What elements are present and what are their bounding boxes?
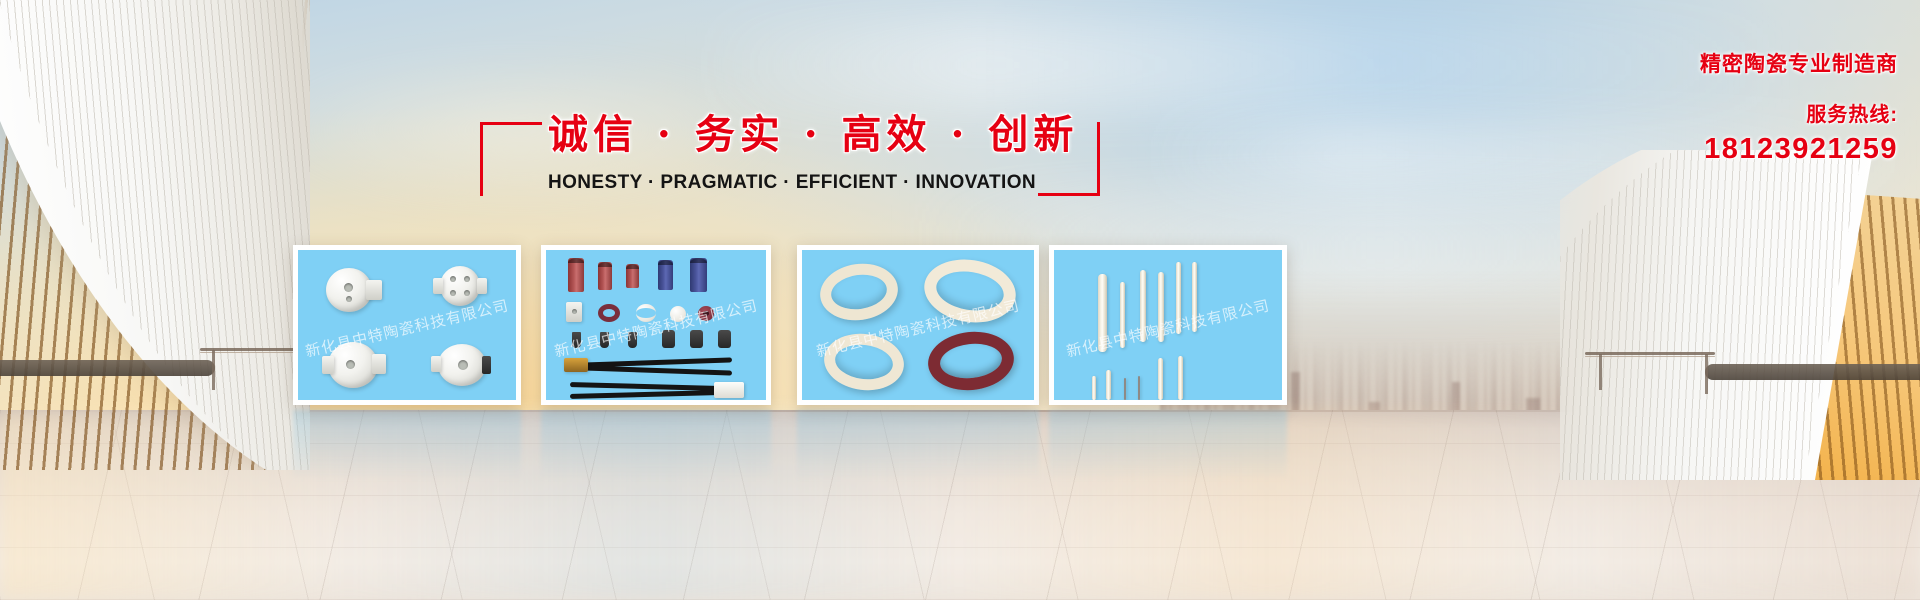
- product-panel-ceramic-rods[interactable]: 新化县中特陶瓷科技有限公司: [1049, 245, 1287, 405]
- railing-post: [212, 350, 215, 390]
- company-tagline: 精密陶瓷专业制造商: [1538, 48, 1898, 78]
- panel-reflection: [1049, 410, 1287, 480]
- panel-reflection: [541, 410, 771, 480]
- product-panel-ceramic-lamp-holders[interactable]: 新化县中特陶瓷科技有限公司: [293, 245, 521, 405]
- contact-block: 精密陶瓷专业制造商 服务热线: 18123921259: [1538, 48, 1898, 166]
- railing-post: [1705, 354, 1708, 394]
- product-panel-row: 新化县中特陶瓷科技有限公司: [293, 245, 1293, 410]
- railing-post: [1599, 354, 1602, 390]
- panel-reflection: [797, 410, 1039, 480]
- right-railing-bar: [1585, 352, 1715, 355]
- slogan-block: 诚信 · 务实 · 高效 · 创新 HONESTY · PRAGMATIC · …: [480, 108, 1100, 200]
- panel-reflection: [293, 410, 521, 480]
- promo-banner: 诚信 · 务实 · 高效 · 创新 HONESTY · PRAGMATIC · …: [0, 0, 1920, 600]
- hotline-label: 服务热线:: [1538, 98, 1898, 127]
- panel-watermark: 新化县中特陶瓷科技有限公司: [552, 294, 759, 361]
- panel-watermark: 新化县中特陶瓷科技有限公司: [1064, 294, 1271, 361]
- bracket-top-left-icon: [480, 122, 542, 196]
- hotline-number[interactable]: 18123921259: [1538, 133, 1898, 166]
- left-handrail: [0, 360, 215, 376]
- slogan-chinese: 诚信 · 务实 · 高效 · 创新: [548, 108, 1032, 164]
- right-railing-highlight: [1585, 356, 1715, 357]
- product-panel-ceramic-tubes[interactable]: 新化县中特陶瓷科技有限公司: [541, 245, 771, 405]
- left-curved-architecture: [0, 0, 310, 470]
- product-panel-ceramic-rings[interactable]: 新化县中特陶瓷科技有限公司: [797, 245, 1039, 405]
- slogan-english: HONESTY · PRAGMATIC · EFFICIENT · INNOVA…: [548, 170, 1032, 196]
- right-handrail: [1705, 364, 1920, 380]
- right-curved-architecture: [1560, 150, 1920, 480]
